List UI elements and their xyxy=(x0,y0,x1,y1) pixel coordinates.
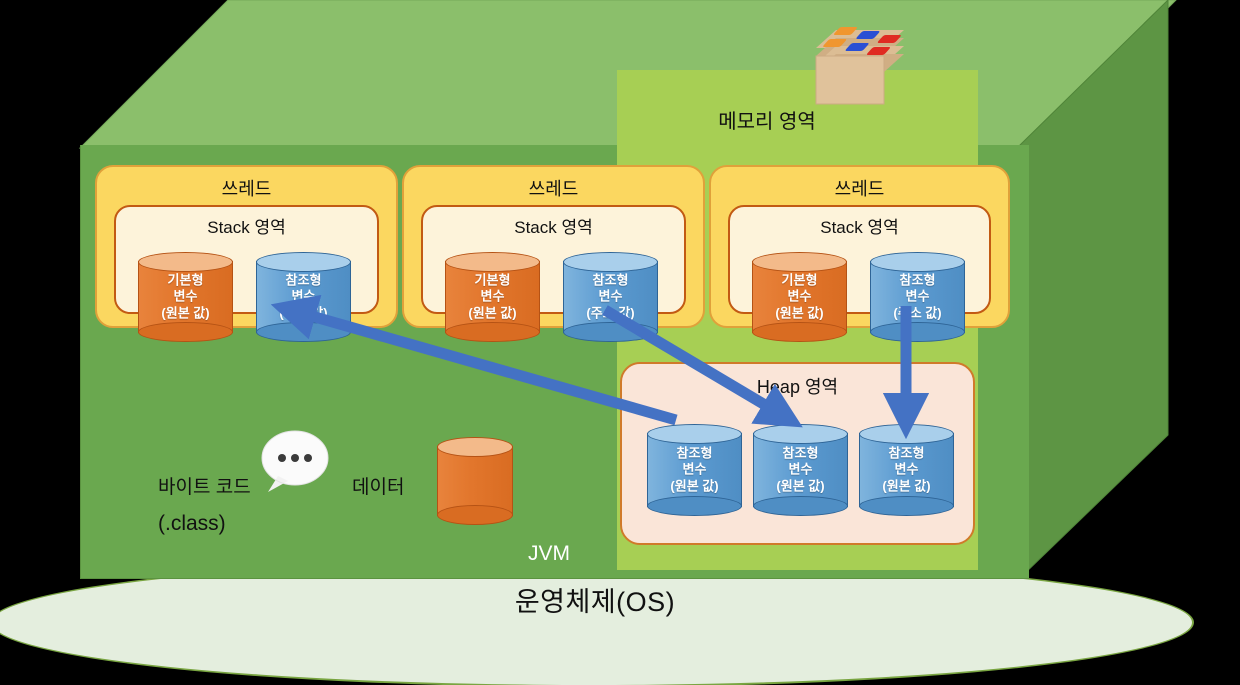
data-label: 데이터 xyxy=(352,472,404,499)
bytecode-extension-label: (.class) xyxy=(158,512,226,536)
jvm-label: JVM xyxy=(528,542,570,566)
data-cylinder-icon xyxy=(437,437,513,525)
jvm-memory-diagram: 운영체제(OS) 메모리 영역 쓰레드 Stack 영역 xyxy=(0,0,1240,685)
speech-balloon-icon xyxy=(258,428,330,496)
arrow-thread2-to-heap2 xyxy=(605,310,782,415)
bytecode-label: 바이트 코드 xyxy=(158,472,251,499)
arrow-heap1-to-thread1 xyxy=(294,311,676,420)
reference-arrows xyxy=(0,0,1240,685)
